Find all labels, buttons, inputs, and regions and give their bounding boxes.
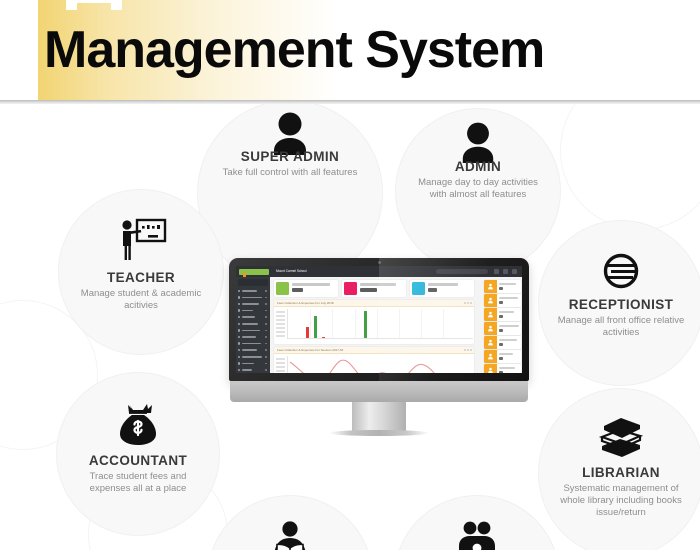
dashboard-sidebar: [236, 277, 270, 373]
role-title: TEACHER: [59, 270, 223, 285]
monitor-bezel: Mount Carmel School: [229, 258, 529, 381]
role-title: RECEPTIONIST: [539, 297, 700, 312]
role-card-teacher[interactable]: TEACHER Manage student & academic acitiv…: [58, 189, 224, 355]
reception-desk-icon: [539, 243, 700, 293]
summary-card[interactable]: [484, 350, 521, 363]
roles-diagram: SUPER ADMIN Take full control with all f…: [0, 104, 700, 550]
sidebar-item[interactable]: [238, 361, 268, 367]
sidebar-item[interactable]: [238, 354, 268, 360]
user-avatar-icon: [484, 308, 497, 321]
sidebar-item[interactable]: [238, 341, 268, 347]
sidebar-item[interactable]: [238, 288, 268, 294]
cash-icon: [276, 282, 289, 295]
student-icon: [412, 282, 425, 295]
role-card-parent[interactable]: [394, 495, 560, 550]
bar-collection: [322, 337, 325, 339]
sidebar-session-selector[interactable]: [238, 279, 268, 286]
notifications-icon[interactable]: [494, 269, 499, 274]
sidebar-item[interactable]: [238, 328, 268, 334]
stat-card[interactable]: [274, 280, 338, 297]
sidebar-item[interactable]: [238, 314, 268, 320]
user-avatar-icon: [484, 322, 497, 335]
summary-card[interactable]: [484, 322, 521, 335]
dashboard-app: Mount Carmel School: [236, 266, 522, 373]
bar-expense: [364, 311, 367, 338]
summary-card[interactable]: [484, 336, 521, 349]
role-description: Manage student & academic acitivies: [59, 288, 223, 312]
user-person-icon: [396, 113, 560, 165]
sidebar-item[interactable]: [238, 367, 268, 373]
panel-title: Fees Collection & Expenses For July 2018: [277, 301, 334, 306]
sidebar-item[interactable]: [238, 334, 268, 340]
role-description: Systematic management of whole library i…: [539, 483, 700, 519]
webcam-dot: [378, 261, 381, 264]
role-card-receptionist[interactable]: RECEPTIONIST Manage all front office rel…: [538, 220, 700, 386]
chart-panel-monthly: Fees Collection & Expenses For July 2018: [274, 300, 474, 344]
search-input[interactable]: [436, 269, 488, 274]
user-avatar-icon: [484, 280, 497, 293]
summary-card[interactable]: [484, 364, 521, 373]
stat-card[interactable]: [410, 280, 474, 297]
role-title: ADMIN: [396, 159, 560, 174]
role-description: Manage all front office relative activit…: [539, 315, 700, 339]
monitor-chin: [230, 381, 528, 402]
card-icon: [344, 282, 357, 295]
sidebar-item[interactable]: [238, 347, 268, 353]
role-title: LIBRARIAN: [539, 465, 700, 480]
messages-icon[interactable]: [503, 269, 508, 274]
stat-card[interactable]: [342, 280, 406, 297]
panel-title: Fees Collection & Expenses For Session 2…: [277, 348, 343, 353]
stacked-books-icon: [539, 407, 700, 459]
student-reading-book-icon: [208, 514, 372, 550]
money-bag-icon: [57, 395, 219, 447]
chart-panel-session: Fees Collection & Expenses For Session 2…: [274, 347, 474, 373]
role-description: Take full control with all features: [198, 167, 382, 179]
role-title: SUPER ADMIN: [198, 149, 382, 164]
role-card-student[interactable]: [207, 495, 373, 550]
page-header: Management System: [0, 0, 700, 100]
summary-card[interactable]: [484, 308, 521, 321]
monitor-screen: Mount Carmel School: [236, 266, 522, 373]
parents-with-child-icon: [395, 516, 559, 550]
role-card-admin[interactable]: ADMIN Manage day to day activities with …: [395, 108, 561, 274]
bar-chart: [287, 309, 473, 339]
page-title: Management System: [44, 8, 544, 92]
teacher-blackboard-icon: [59, 214, 223, 264]
panel-controls[interactable]: [464, 302, 472, 304]
sidebar-item[interactable]: [238, 308, 268, 314]
decorative-ring: [560, 104, 700, 230]
dashboard-main: Fees Collection & Expenses For July 2018: [270, 277, 483, 373]
bar-collection: [306, 327, 309, 338]
bar-expense: [314, 316, 317, 338]
role-card-accountant[interactable]: ACCOUNTANT Trace student fees and expens…: [56, 372, 220, 536]
role-description: Trace student fees and expenses all at a…: [57, 471, 219, 495]
dashboard-topbar: Mount Carmel School: [236, 266, 522, 277]
desktop-monitor: Mount Carmel School: [229, 258, 529, 418]
monitor-stand-neck: [352, 402, 406, 432]
role-title: ACCOUNTANT: [57, 453, 219, 468]
school-name: Mount Carmel School: [276, 269, 307, 274]
app-logo[interactable]: [239, 269, 269, 275]
user-avatar-icon: [484, 364, 497, 373]
role-card-librarian[interactable]: LIBRARIAN Systematic management of whole…: [538, 388, 700, 550]
user-avatar-icon: [484, 294, 497, 307]
monitor-stand-base: [329, 430, 429, 436]
line-chart: [287, 356, 473, 373]
role-description: Manage day to day activities with almost…: [396, 177, 560, 201]
dashboard-right-panel: [483, 277, 522, 373]
profile-icon[interactable]: [512, 269, 517, 274]
sidebar-item[interactable]: [238, 295, 268, 301]
user-avatar-icon: [484, 336, 497, 349]
summary-card[interactable]: [484, 280, 521, 293]
user-avatar-icon: [484, 350, 497, 363]
summary-card[interactable]: [484, 294, 521, 307]
panel-controls[interactable]: [464, 349, 472, 351]
sidebar-item[interactable]: [238, 301, 268, 307]
sidebar-item[interactable]: [238, 321, 268, 327]
